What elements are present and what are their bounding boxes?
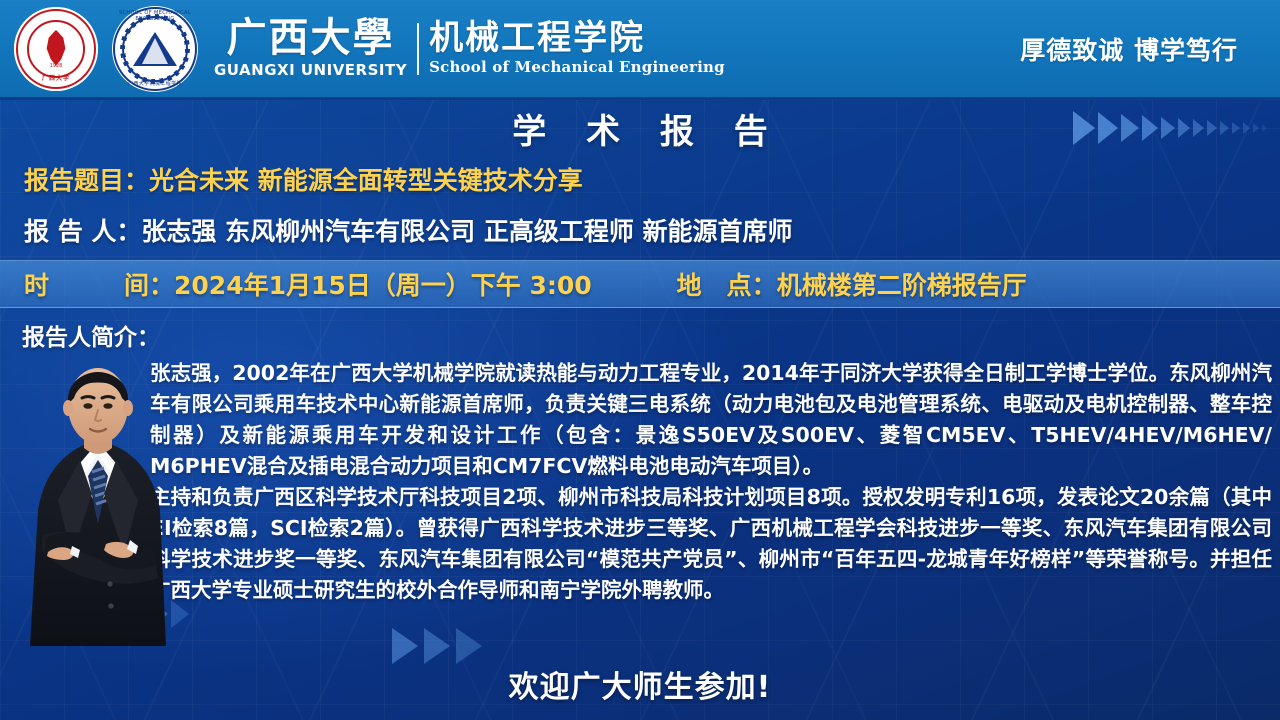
welcome-message: 欢迎广大师生参加!: [0, 662, 1280, 706]
lecture-topic-label: 报告题目：: [24, 166, 149, 195]
chevron-right-icon: [456, 628, 482, 664]
brand-university-column: 广西大學 GUANGXI UNIVERSITY: [214, 18, 407, 79]
sme-seal-top-text: SCHOOL OF MECHANICAL ENGINEERING: [112, 10, 198, 22]
lecture-topic-value: 光合未来 新能源全面转型关键技术分享: [149, 166, 583, 195]
mountain-inner-emblem-icon: [142, 38, 168, 64]
school-name-en: School of Mechanical Engineering: [429, 58, 725, 76]
chevron-right-icon: [424, 628, 450, 664]
bio-paragraph-2: 主持和负责广西区科学技术厅科技项目2项、柳州市科技局科技计划项目8项。授权发明专…: [150, 482, 1272, 606]
lecture-place: 地 点：机械楼第二阶梯报告厅: [677, 266, 1027, 302]
chevron-right-icon: [392, 628, 418, 664]
footer-chevron-decoration: [392, 628, 488, 664]
speaker-bio-heading: 报告人简介：: [0, 308, 1280, 352]
lecture-place-label: 地 点：: [677, 271, 777, 300]
lecture-time: 时 间：2024年1月15日（周一）下午 3:00: [0, 266, 592, 302]
seal-university-name: 广西大学: [14, 73, 98, 82]
university-motto: 厚德致诚 博学笃行: [1020, 31, 1238, 67]
brand-lockup: 广西大學 GUANGXI UNIVERSITY 机械工程学院 School of…: [214, 18, 725, 79]
lecture-time-label: 时 间：: [24, 271, 174, 300]
lecture-speaker-label: 报 告 人：: [24, 217, 141, 246]
lecture-topic-line: 报告题目：光合未来 新能源全面转型关键技术分享: [0, 156, 1280, 206]
lecture-speaker-value: 张志强 东风柳州汽车有限公司 正高级工程师 新能源首席师: [141, 217, 792, 246]
seal-year-text: 1928: [14, 63, 98, 69]
school-name-cn: 机械工程学院: [429, 21, 725, 57]
sme-seal-bottom-text: 广西大学机械工程学院: [112, 80, 198, 87]
academic-lecture-poster: 1928 广西大学 SCHOOL OF MECHANICAL ENGINEERI…: [0, 0, 1280, 720]
speaker-bio-body: 张志强，2002年在广西大学机械学院就读热能与动力工程专业，2014年于同济大学…: [150, 352, 1272, 606]
university-name-cn: 广西大學: [227, 18, 395, 58]
lecture-place-value: 机械楼第二阶梯报告厅: [777, 271, 1027, 300]
guangxi-university-seal-icon: 1928 广西大学: [14, 7, 98, 91]
university-name-en: GUANGXI UNIVERSITY: [214, 61, 407, 79]
speaker-portrait-photo: [14, 368, 182, 660]
brand-school-column: 机械工程学院 School of Mechanical Engineering: [429, 21, 725, 77]
bio-paragraph-1: 张志强，2002年在广西大学机械学院就读热能与动力工程专业，2014年于同济大学…: [150, 358, 1272, 482]
header-banner: 1928 广西大学 SCHOOL OF MECHANICAL ENGINEERI…: [0, 0, 1280, 100]
title-row: 学 术 报 告: [0, 100, 1280, 156]
time-and-place-bar: 时 间：2024年1月15日（周一）下午 3:00 地 点：机械楼第二阶梯报告厅: [0, 260, 1280, 308]
brand-divider: [417, 23, 419, 75]
page-title: 学 术 报 告: [0, 104, 1280, 153]
lecture-time-value: 2024年1月15日（周一）下午 3:00: [174, 271, 592, 300]
lecture-speaker-line: 报 告 人：张志强 东风柳州汽车有限公司 正高级工程师 新能源首席师: [0, 206, 1280, 258]
school-of-mechanical-engineering-seal-icon: SCHOOL OF MECHANICAL ENGINEERING 广西大学机械工…: [112, 6, 198, 92]
